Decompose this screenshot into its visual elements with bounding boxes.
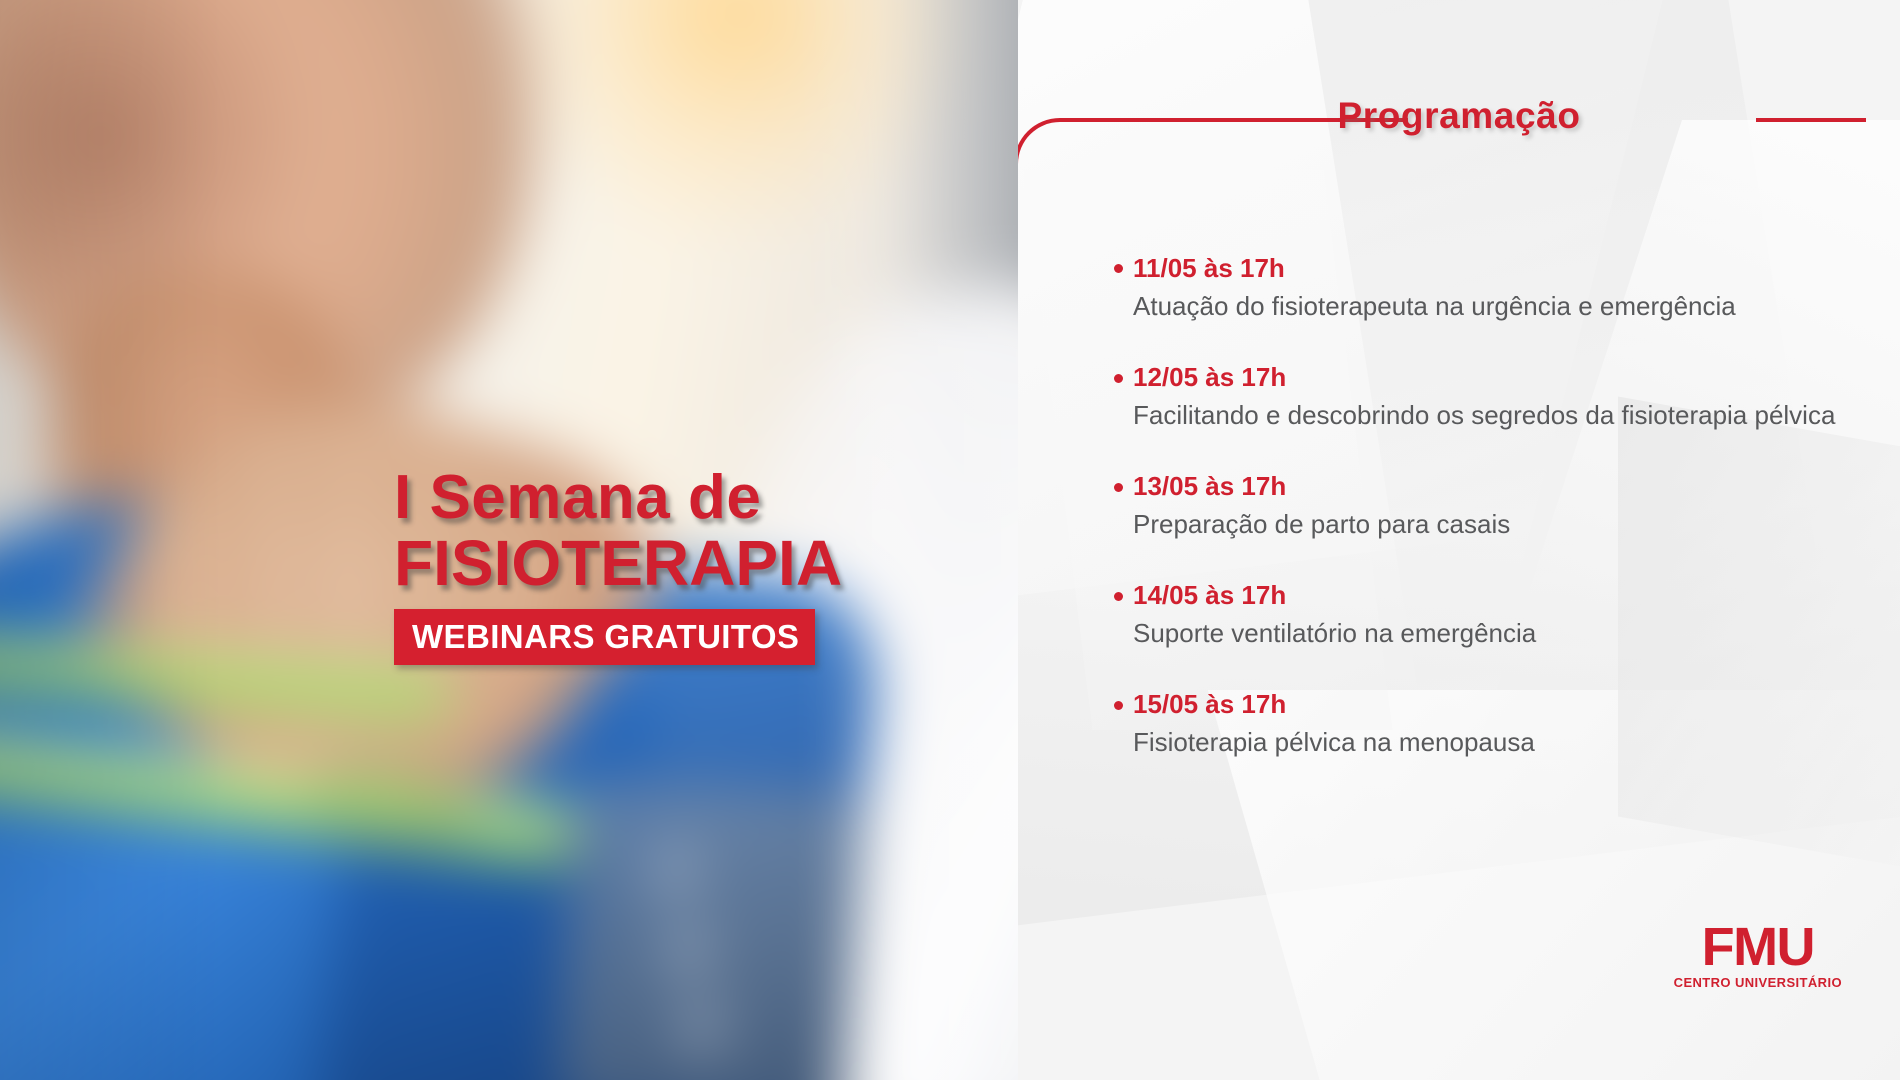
schedule-item-time: 12/05 às 17h — [1133, 363, 1286, 393]
schedule-item-time-row: 11/05 às 17h — [1114, 254, 1874, 284]
schedule-item-time: 14/05 às 17h — [1133, 581, 1286, 611]
promo-banner: I Semana de FISIOTERAPIA WEBINARS GRATUI… — [0, 0, 1900, 1080]
hero-title-line2: FISIOTERAPIA — [394, 531, 974, 596]
schedule-item-time-row: 15/05 às 17h — [1114, 690, 1874, 720]
fmu-logo-subtitle: CENTRO UNIVERSITÁRIO — [1674, 975, 1842, 990]
schedule-item-description: Preparação de parto para casais — [1133, 509, 1874, 540]
schedule-item-time-row: 14/05 às 17h — [1114, 581, 1874, 611]
schedule-item: 15/05 às 17h Fisioterapia pélvica na men… — [1114, 690, 1874, 758]
fmu-logo-mark: FMU — [1674, 922, 1842, 973]
free-webinars-badge-label: WEBINARS GRATUITOS — [412, 618, 799, 655]
schedule-item-description: Facilitando e descobrindo os segredos da… — [1133, 400, 1874, 431]
bullet-icon — [1114, 483, 1123, 492]
fmu-logo: FMU CENTRO UNIVERSITÁRIO — [1674, 922, 1842, 990]
schedule-panel: Programação 11/05 às 17h Atuação do fisi… — [1018, 0, 1900, 1080]
schedule-list: 11/05 às 17h Atuação do fisioterapeuta n… — [1114, 254, 1874, 758]
free-webinars-badge: WEBINARS GRATUITOS — [394, 609, 815, 665]
schedule-item: 14/05 às 17h Suporte ventilatório na eme… — [1114, 581, 1874, 649]
schedule-item-description: Atuação do fisioterapeuta na urgência e … — [1133, 291, 1874, 322]
schedule-item: 11/05 às 17h Atuação do fisioterapeuta n… — [1114, 254, 1874, 322]
section-title: Programação — [1018, 95, 1900, 137]
schedule-item-description: Fisioterapia pélvica na menopausa — [1133, 727, 1874, 758]
schedule-item-time: 15/05 às 17h — [1133, 690, 1286, 720]
schedule-item: 12/05 às 17h Facilitando e descobrindo o… — [1114, 363, 1874, 431]
bullet-icon — [1114, 264, 1123, 273]
schedule-item-time: 11/05 às 17h — [1133, 254, 1285, 284]
schedule-item: 13/05 às 17h Preparação de parto para ca… — [1114, 472, 1874, 540]
bullet-icon — [1114, 592, 1123, 601]
hero-title-line1: I Semana de — [394, 466, 974, 529]
hero-title-block: I Semana de FISIOTERAPIA WEBINARS GRATUI… — [394, 466, 974, 665]
bullet-icon — [1114, 374, 1123, 383]
bullet-icon — [1114, 701, 1123, 710]
schedule-item-time-row: 13/05 às 17h — [1114, 472, 1874, 502]
schedule-item-time: 13/05 às 17h — [1133, 472, 1286, 502]
schedule-item-description: Suporte ventilatório na emergência — [1133, 618, 1874, 649]
schedule-item-time-row: 12/05 às 17h — [1114, 363, 1874, 393]
